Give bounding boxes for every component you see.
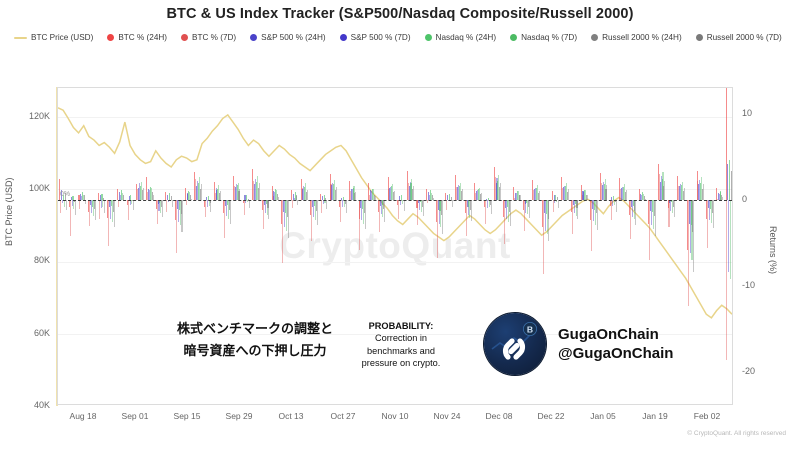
gugaonchain-logo-icon: B bbox=[484, 313, 546, 375]
return-bar bbox=[423, 200, 424, 216]
brand-name: GugaOnChain bbox=[558, 325, 673, 344]
return-bar bbox=[577, 200, 578, 220]
x-axis-tick-label: Dec 08 bbox=[486, 411, 513, 421]
return-bar bbox=[239, 189, 240, 199]
return-bar bbox=[220, 191, 221, 200]
annotation-probability-line2: benchmarks and bbox=[340, 345, 462, 357]
left-axis-tick-label: 40K bbox=[0, 400, 50, 410]
legend-item-label: BTC % (7D) bbox=[192, 30, 236, 45]
legend-item-label: Russell 2000 % (7D) bbox=[707, 30, 782, 45]
return-bar bbox=[326, 200, 327, 209]
annotation-probability: PROBABILITY: Correction in benchmarks an… bbox=[340, 320, 462, 370]
return-bar bbox=[413, 186, 414, 200]
x-axis-tick-label: Jan 05 bbox=[590, 411, 616, 421]
x-axis-tick-label: Nov 24 bbox=[434, 411, 461, 421]
legend-item[interactable]: Russell 2000 % (24H) bbox=[591, 30, 682, 45]
annotation-probability-line1: Correction in bbox=[340, 332, 462, 344]
return-bar bbox=[104, 200, 105, 214]
legend-item-label: S&P 500 % (24H) bbox=[261, 30, 325, 45]
return-bar bbox=[500, 183, 501, 200]
return-bar bbox=[693, 200, 694, 272]
zero-reference-line bbox=[58, 200, 732, 201]
return-bar bbox=[75, 200, 76, 215]
return-bar bbox=[731, 171, 732, 200]
return-bar bbox=[539, 191, 540, 200]
return-bar bbox=[491, 200, 492, 215]
return-bar bbox=[674, 200, 675, 217]
annotation-japanese-line2: 暗号資産への下押し圧力 bbox=[150, 340, 360, 362]
legend-item-label: S&P 500 % (7D) bbox=[351, 30, 411, 45]
legend-item[interactable]: Nasdaq % (24H) bbox=[425, 30, 497, 45]
return-bar bbox=[568, 189, 569, 199]
legend-dot-icon bbox=[340, 34, 347, 41]
svg-text:B: B bbox=[527, 324, 533, 334]
right-axis-label: Returns (%) bbox=[768, 226, 778, 274]
return-bar bbox=[655, 200, 656, 236]
return-bar bbox=[684, 188, 685, 200]
legend-item-label: BTC % (24H) bbox=[118, 30, 167, 45]
legend-item[interactable]: Russell 2000 % (7D) bbox=[696, 30, 782, 45]
return-bar bbox=[288, 200, 289, 238]
return-bar bbox=[268, 200, 269, 219]
return-bar bbox=[346, 200, 347, 214]
return-bar bbox=[162, 200, 163, 217]
chart-title: BTC & US Index Tracker (S&P500/Nasdaq Co… bbox=[0, 6, 800, 22]
return-bar bbox=[114, 200, 115, 228]
x-axis-tick-label: Nov 10 bbox=[382, 411, 409, 421]
brand-name-block: GugaOnChain @GugaOnChain bbox=[558, 325, 673, 363]
return-bar bbox=[548, 200, 549, 241]
right-axis-tick-label: -10 bbox=[742, 280, 755, 290]
return-bar bbox=[66, 200, 67, 210]
right-axis-tick-label: -20 bbox=[742, 366, 755, 376]
return-bar bbox=[452, 200, 453, 207]
annotation-japanese: 株式ベンチマークの調整と 暗号資産への下押し圧力 bbox=[150, 318, 360, 362]
return-bar bbox=[384, 200, 385, 222]
return-bar bbox=[471, 200, 472, 221]
legend-dot-icon bbox=[425, 34, 432, 41]
x-axis-tick-label: Dec 22 bbox=[538, 411, 565, 421]
return-bar bbox=[249, 200, 250, 209]
return-bar bbox=[703, 184, 704, 199]
return-bar bbox=[259, 183, 260, 199]
left-axis-label: BTC Price (USD) bbox=[4, 177, 14, 246]
return-bar bbox=[664, 181, 665, 200]
legend-item-label: Russell 2000 % (24H) bbox=[602, 30, 682, 45]
legend-item[interactable]: S&P 500 % (24H) bbox=[250, 30, 325, 45]
return-bar bbox=[307, 190, 308, 199]
return-bar bbox=[626, 190, 627, 199]
return-bar bbox=[95, 200, 96, 221]
legend-dot-icon bbox=[591, 34, 598, 41]
x-axis-tick-label: Aug 18 bbox=[70, 411, 97, 421]
chain-link-icon: B bbox=[484, 313, 546, 375]
legend-line-icon bbox=[14, 37, 27, 39]
legend-item-label: BTC Price (USD) bbox=[31, 30, 93, 45]
x-axis-tick-label: Feb 02 bbox=[694, 411, 720, 421]
legend-item[interactable]: S&P 500 % (7D) bbox=[340, 30, 411, 45]
legend-dot-icon bbox=[696, 34, 703, 41]
return-bar bbox=[79, 200, 80, 209]
return-bar bbox=[201, 184, 202, 199]
right-axis-tick-label: 0 bbox=[742, 194, 747, 204]
brand-handle: @GugaOnChain bbox=[558, 344, 673, 363]
legend-item-label: Nasdaq % (24H) bbox=[436, 30, 497, 45]
legend-item-label: Nasdaq % (7D) bbox=[521, 30, 577, 45]
x-axis-tick-label: Sep 29 bbox=[226, 411, 253, 421]
left-axis-tick-label: 80K bbox=[0, 255, 50, 265]
return-bar bbox=[292, 200, 293, 209]
return-bar bbox=[404, 200, 405, 211]
return-bar bbox=[606, 185, 607, 200]
brand-block: B GugaOnChain @GugaOnChain bbox=[484, 313, 673, 375]
copyright-notice: © CryptoQuant. All rights reserved bbox=[0, 430, 786, 437]
annotation-japanese-line1: 株式ベンチマークの調整と bbox=[150, 318, 360, 340]
x-axis-tick-label: Sep 01 bbox=[122, 411, 149, 421]
annotation-probability-line3: pressure on crypto. bbox=[340, 357, 462, 369]
legend-dot-icon bbox=[250, 34, 257, 41]
return-bar bbox=[462, 189, 463, 200]
return-bar bbox=[394, 191, 395, 200]
right-axis-tick-label: 10 bbox=[742, 108, 752, 118]
return-bar bbox=[597, 200, 598, 230]
zero-line-label: 0% bbox=[60, 191, 70, 198]
legend-dot-icon bbox=[107, 34, 114, 41]
return-bar bbox=[172, 200, 173, 208]
x-axis-tick-label: Oct 13 bbox=[278, 411, 303, 421]
legend-item[interactable]: BTC Price (USD) bbox=[14, 30, 93, 45]
legend-item[interactable]: Nasdaq % (7D) bbox=[510, 30, 577, 45]
x-axis-tick-label: Sep 15 bbox=[174, 411, 201, 421]
return-bar bbox=[635, 200, 636, 225]
x-axis-tick-label: Jan 19 bbox=[642, 411, 668, 421]
left-axis-tick-label: 120K bbox=[0, 111, 50, 121]
return-bar bbox=[529, 200, 530, 218]
annotation-probability-heading: PROBABILITY: bbox=[369, 321, 434, 331]
return-bar bbox=[118, 200, 119, 207]
return-bar bbox=[558, 200, 559, 209]
return-bar bbox=[481, 193, 482, 200]
legend-item[interactable]: BTC % (24H) bbox=[107, 30, 167, 45]
return-bar bbox=[133, 200, 134, 210]
x-axis-tick-label: Oct 27 bbox=[330, 411, 355, 421]
return-bar bbox=[713, 200, 714, 228]
return-bar bbox=[210, 200, 211, 212]
return-bar bbox=[442, 200, 443, 234]
return-bar bbox=[317, 200, 318, 226]
return-bar bbox=[355, 192, 356, 200]
return-bar bbox=[365, 200, 366, 229]
return-bar bbox=[732, 200, 733, 290]
legend-item[interactable]: BTC % (7D) bbox=[181, 30, 236, 45]
return-bar bbox=[143, 188, 144, 200]
return-bar bbox=[230, 200, 231, 224]
return-bar bbox=[336, 187, 337, 200]
chart-legend: BTC Price (USD)BTC % (24H)BTC % (7D)S&P … bbox=[14, 30, 794, 45]
legend-dot-icon bbox=[181, 34, 188, 41]
left-axis-tick-label: 60K bbox=[0, 328, 50, 338]
legend-dot-icon bbox=[510, 34, 517, 41]
return-bar bbox=[181, 200, 182, 233]
return-bar bbox=[510, 200, 511, 227]
return-bar bbox=[616, 200, 617, 212]
